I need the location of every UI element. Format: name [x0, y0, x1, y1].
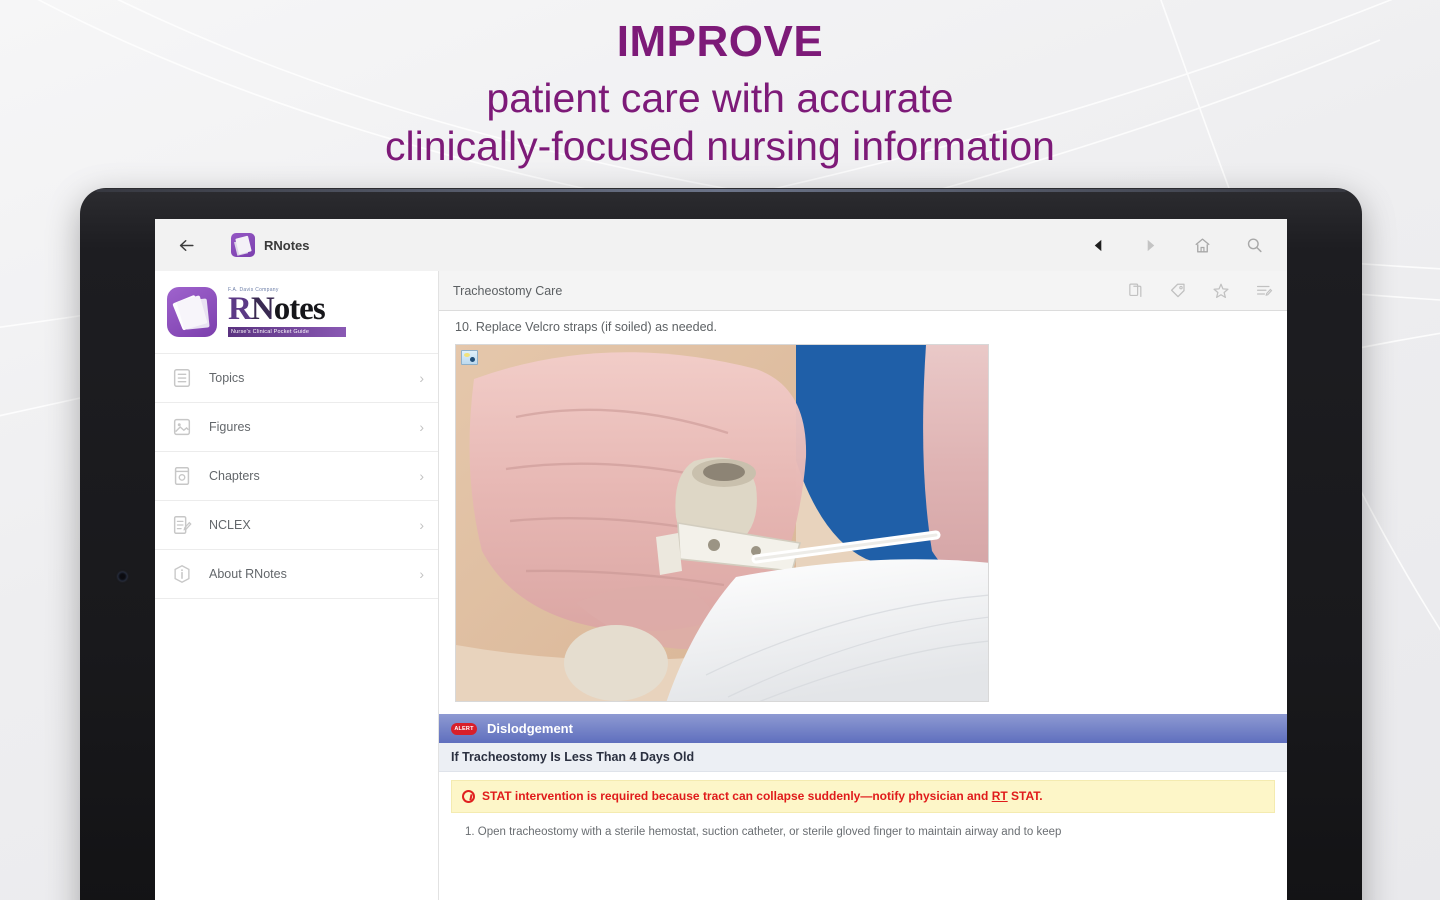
nav-back-icon [1091, 238, 1106, 253]
search-icon [1245, 236, 1264, 255]
logo-letter-n: N [251, 291, 274, 327]
clipboard-glyph [235, 236, 251, 255]
figure-illustration [456, 345, 989, 702]
alert-subtitle: If Tracheostomy Is Less Than 4 Days Old [439, 743, 1287, 772]
sidebar-item-figures[interactable]: Figures › [155, 403, 438, 452]
app-title: RNotes [264, 238, 310, 253]
star-icon [1212, 282, 1230, 300]
step-line-1: 1. Open tracheostomy with a sterile hemo… [439, 813, 1287, 838]
front-camera-icon [118, 572, 127, 581]
content-pane: Tracheostomy Care [439, 271, 1287, 900]
app-bar-actions [1085, 232, 1273, 258]
image-icon [171, 416, 193, 438]
stat-alert-icon [462, 790, 475, 803]
promo-title: IMPROVE [0, 18, 1440, 66]
alert-header: ALERT Dislodgement [439, 714, 1287, 743]
arrow-left-icon [177, 236, 196, 255]
promo-subtitle-1: patient care with accurate [0, 74, 1440, 122]
chevron-right-icon: › [419, 468, 424, 484]
nav-forward-icon [1143, 238, 1158, 253]
document-title: Tracheostomy Care [453, 284, 562, 298]
tag-icon [1169, 282, 1187, 300]
tag-button[interactable] [1167, 280, 1189, 302]
logo-wordmark: F.A. Davis Company RNotes Nurse's Clinic… [228, 287, 346, 336]
home-icon [1193, 236, 1212, 255]
content-header: Tracheostomy Care [439, 271, 1287, 311]
alert-badge: ALERT [451, 723, 477, 735]
alert-title: Dislodgement [487, 721, 573, 736]
logo-word-rest: otes [274, 291, 325, 327]
nav-back-button[interactable] [1085, 232, 1111, 258]
document-body: 10. Replace Velcro straps (if soiled) as… [439, 311, 1287, 838]
sidebar-item-label: Topics [209, 371, 419, 385]
bezel-highlight [96, 189, 1346, 192]
sidebar: F.A. Davis Company RNotes Nurse's Clinic… [155, 271, 439, 900]
search-button[interactable] [1241, 232, 1267, 258]
chevron-right-icon: › [419, 419, 424, 435]
sidebar-item-label: NCLEX [209, 518, 419, 532]
tracheostomy-care-photo[interactable] [455, 344, 989, 702]
chevron-right-icon: › [419, 517, 424, 533]
back-button[interactable] [169, 228, 203, 262]
exam-pencil-icon [171, 514, 193, 536]
image-thumbnail-icon [461, 350, 478, 365]
notes-button[interactable] [1253, 280, 1275, 302]
chevron-right-icon: › [419, 370, 424, 386]
info-icon [171, 563, 193, 585]
sidebar-item-label: Figures [209, 420, 419, 434]
tablet-device-frame: RNotes [80, 188, 1362, 900]
promo-headline: IMPROVE patient care with accurate clini… [0, 18, 1440, 170]
logo-letter-r: R [228, 291, 251, 327]
chevron-right-icon: › [419, 566, 424, 582]
content-header-actions [1124, 280, 1275, 302]
warning-text-part2: STAT. [1008, 789, 1043, 803]
sidebar-logo: F.A. Davis Company RNotes Nurse's Clinic… [155, 271, 438, 353]
warning-text-underline: RT [992, 789, 1008, 803]
app-bar: RNotes [155, 219, 1287, 271]
logo-name: RNotes [228, 294, 346, 324]
sidebar-item-label: Chapters [209, 469, 419, 483]
sidebar-item-about-rnotes[interactable]: About RNotes › [155, 550, 438, 599]
sidebar-item-topics[interactable]: Topics › [155, 354, 438, 403]
list-document-icon [171, 367, 193, 389]
app-body: F.A. Davis Company RNotes Nurse's Clinic… [155, 271, 1287, 900]
stat-warning-text: STAT intervention is required because tr… [482, 789, 1043, 804]
copy-pages-icon [1127, 282, 1144, 299]
warning-text-part1: STAT intervention is required because tr… [482, 789, 992, 803]
copy-pages-button[interactable] [1124, 280, 1146, 302]
home-button[interactable] [1189, 232, 1215, 258]
step-line-10: 10. Replace Velcro straps (if soiled) as… [439, 320, 1287, 344]
notes-icon [1255, 282, 1273, 300]
tablet-screen: RNotes [155, 219, 1287, 900]
sidebar-item-nclex[interactable]: NCLEX › [155, 501, 438, 550]
star-button[interactable] [1210, 280, 1232, 302]
logo-tagline: Nurse's Clinical Pocket Guide [228, 327, 346, 337]
sidebar-item-label: About RNotes [209, 567, 419, 581]
sidebar-item-chapters[interactable]: Chapters › [155, 452, 438, 501]
book-icon [171, 465, 193, 487]
sidebar-nav: Topics › Figures › [155, 353, 438, 599]
rnotes-logo-icon [167, 287, 217, 337]
nav-forward-button[interactable] [1137, 232, 1163, 258]
app-logo-icon [231, 233, 255, 257]
promo-subtitle-2: clinically-focused nursing information [0, 122, 1440, 170]
stat-warning-box: STAT intervention is required because tr… [451, 780, 1275, 813]
